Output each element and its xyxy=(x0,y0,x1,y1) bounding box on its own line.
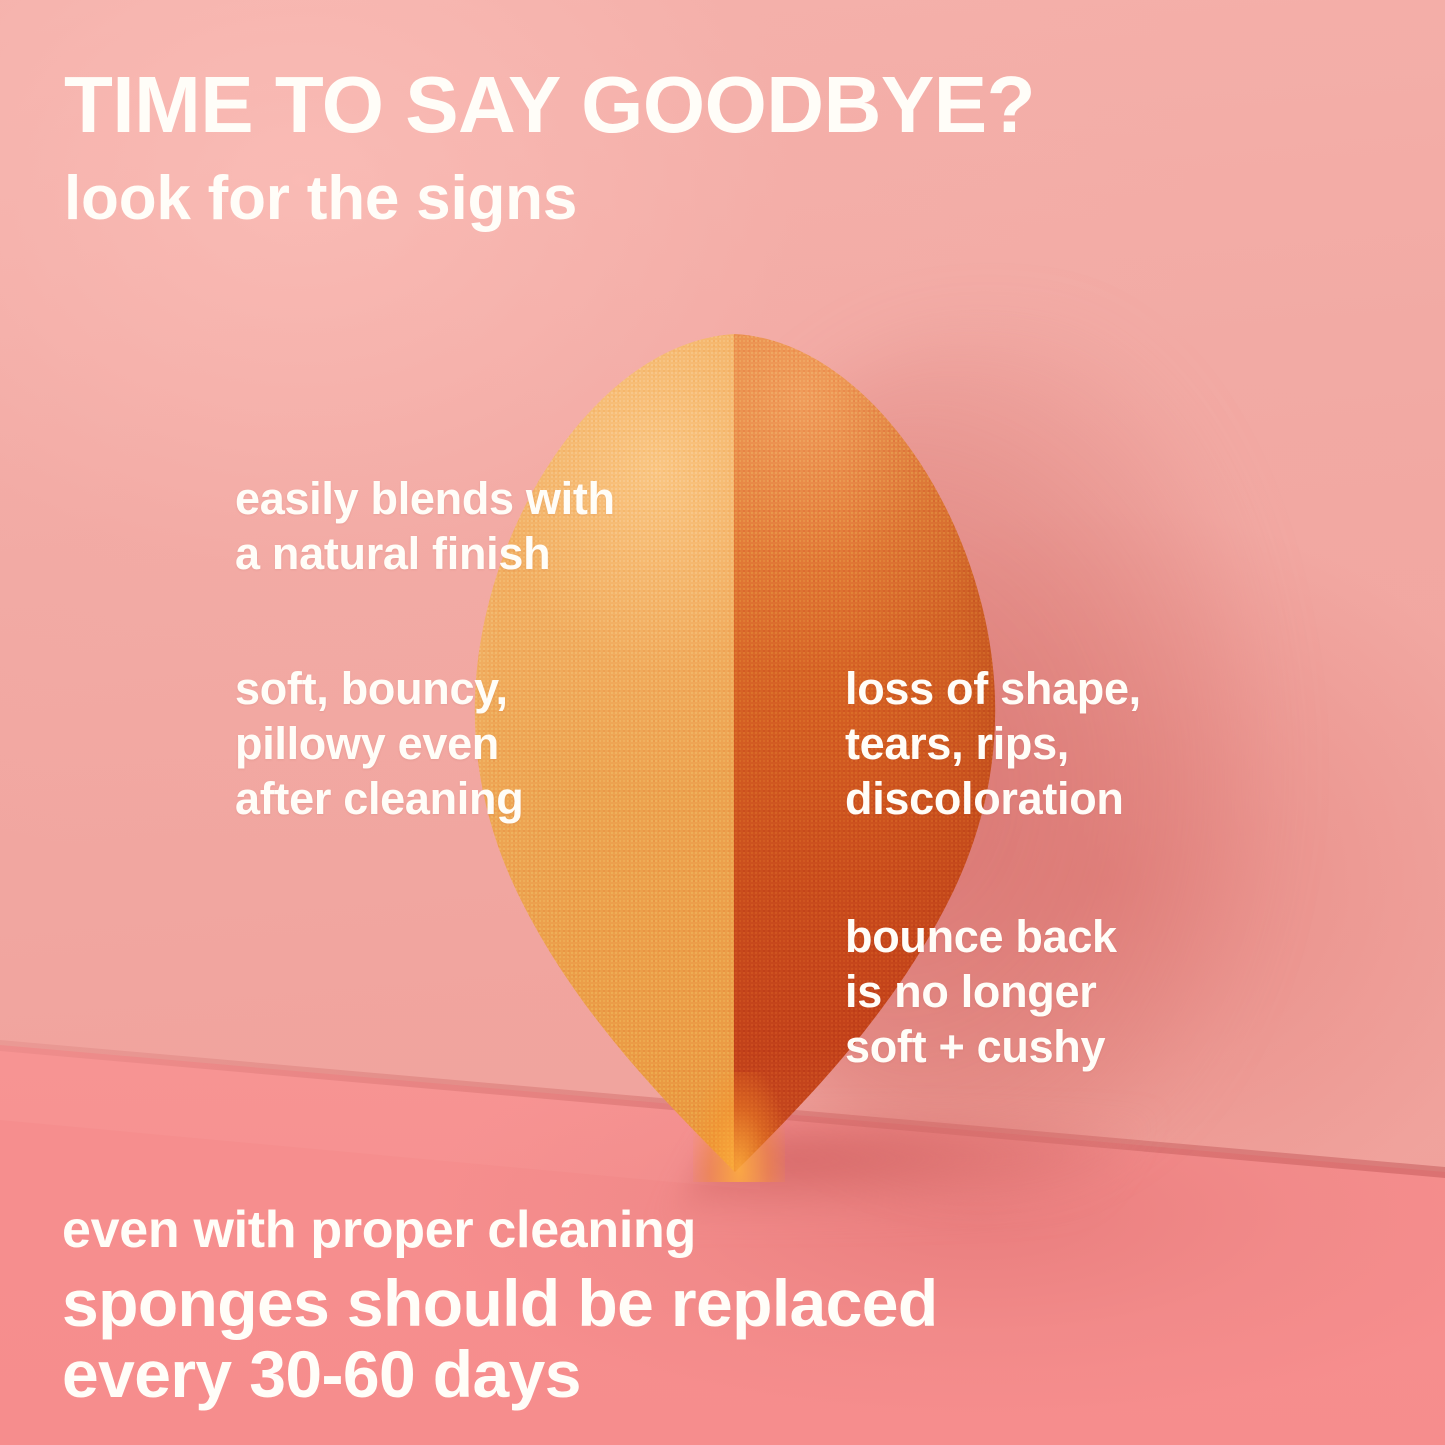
page-title: TIME TO SAY GOODBYE? xyxy=(64,66,1035,144)
callout-bad-bounce: bounce back is no longer soft + cushy xyxy=(845,910,1117,1075)
callout-good-soft: soft, bouncy, pillowy even after cleanin… xyxy=(235,662,523,827)
infographic-canvas: TIME TO SAY GOODBYE? look for the signs … xyxy=(0,0,1445,1445)
footer-emphasis: sponges should be replaced every 30-60 d… xyxy=(62,1268,938,1411)
callout-bad-shape: loss of shape, tears, rips, discoloratio… xyxy=(845,662,1141,827)
footer-caption: even with proper cleaning xyxy=(62,1204,696,1256)
callout-good-blends: easily blends with a natural finish xyxy=(235,472,615,582)
page-subtitle: look for the signs xyxy=(64,168,577,230)
